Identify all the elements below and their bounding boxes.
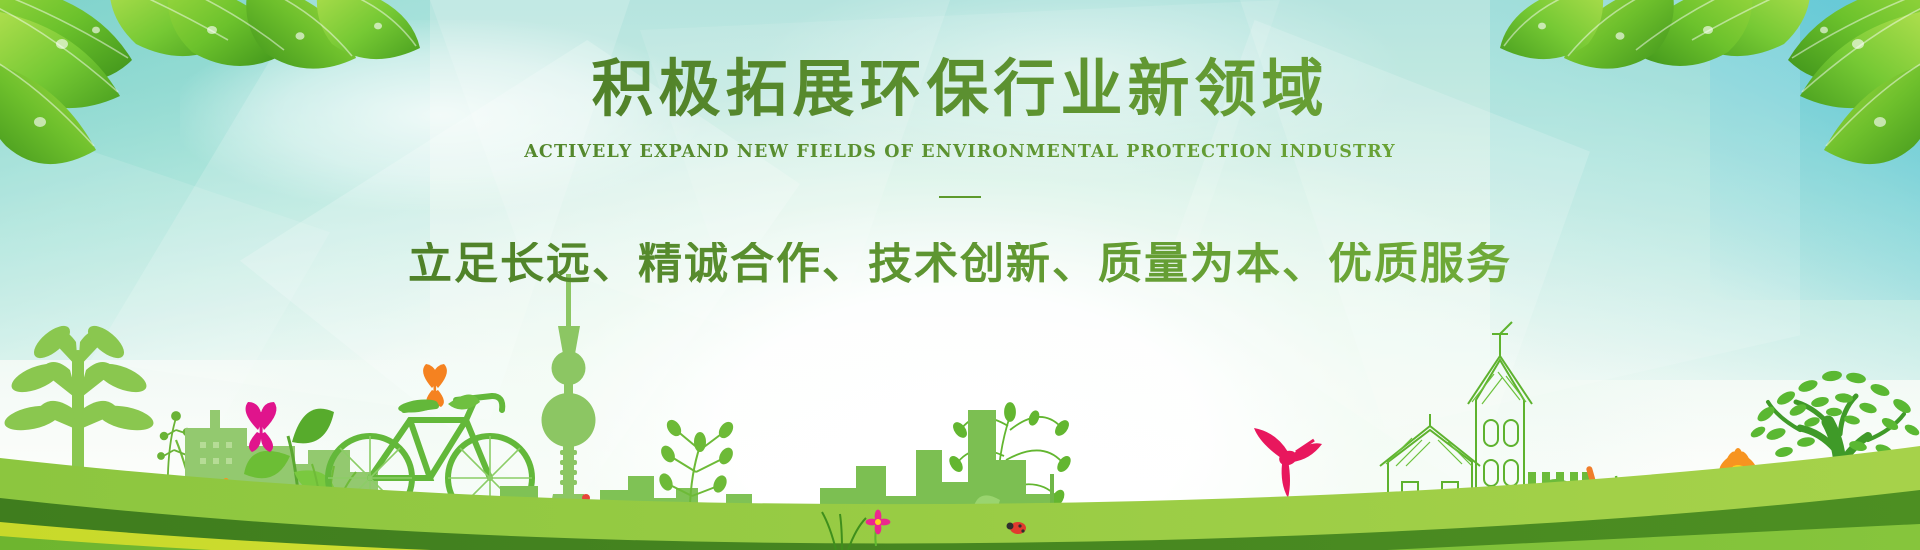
oriental-pearl-tower [542, 274, 596, 532]
eco-banner: 积极拓展环保行业新领域 ACTIVELY EXPAND NEW FIELDS O… [0, 0, 1920, 550]
pink-butterfly [246, 402, 277, 452]
hummingbird [1254, 428, 1322, 498]
banner-text-block: 积极拓展环保行业新领域 ACTIVELY EXPAND NEW FIELDS O… [0, 0, 1920, 286]
banner-slogan: 立足长远、精诚合作、技术创新、质量为本、优质服务 [0, 242, 1920, 286]
text-divider [939, 196, 981, 198]
hatch-roof [1386, 372, 1526, 466]
bicycle-basket-leaf [448, 394, 480, 409]
banner-headline: 积极拓展环保行业新领域 [0, 0, 1920, 120]
banner-subheadline: ACTIVELY EXPAND NEW FIELDS OF ENVIRONMEN… [0, 142, 1920, 162]
scenery-illustration [0, 250, 1920, 550]
